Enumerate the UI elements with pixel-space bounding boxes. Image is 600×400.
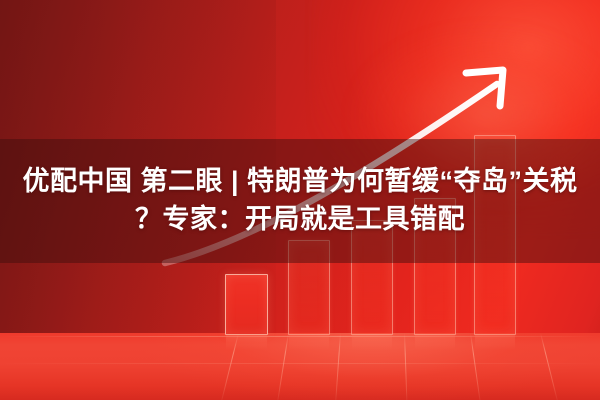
bar-reflection	[352, 334, 392, 350]
headline: 优配中国 第二眼 | 特朗普为何暂缓“夺岛”关税 ？专家：开局就是工具错配	[0, 139, 600, 263]
headline-line-1: 优配中国 第二眼 | 特朗普为何暂缓“夺岛”关税	[22, 164, 577, 200]
bar-reflection	[289, 334, 329, 350]
bar-reflection	[415, 334, 455, 350]
chart-bar-1	[225, 274, 268, 335]
headline-line-2: ？专家：开局就是工具错配	[135, 202, 465, 238]
news-thumbnail-image: 优配中国 第二眼 | 特朗普为何暂缓“夺岛”关税 ？专家：开局就是工具错配	[0, 0, 600, 400]
bar-reflection	[226, 334, 267, 350]
bar-reflection	[475, 334, 515, 350]
